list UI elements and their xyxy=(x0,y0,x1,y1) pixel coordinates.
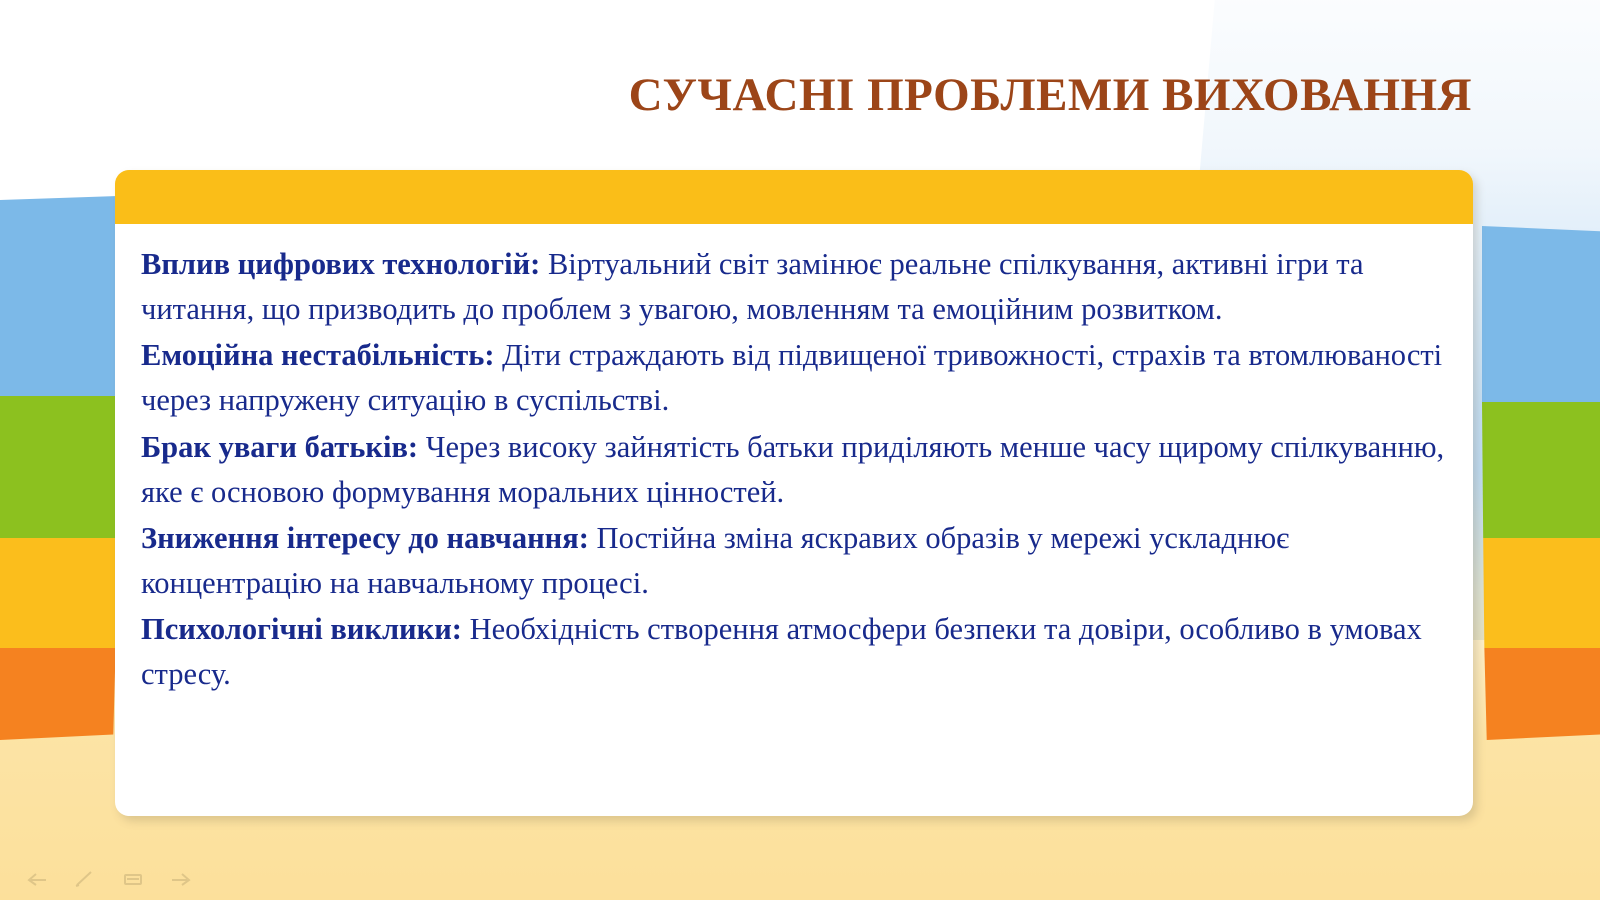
pen-icon[interactable] xyxy=(72,868,98,888)
bullet-lead: Брак уваги батьків: xyxy=(141,430,418,464)
bullet-lead: Психологічні виклики: xyxy=(141,612,462,646)
blue-bar xyxy=(1482,226,1600,402)
presentation-slide: СУЧАСНІ ПРОБЛЕМИ ВИХОВАННЯ Вплив цифрови… xyxy=(0,0,1600,900)
green-bar xyxy=(1482,402,1600,538)
bullet-paragraph: Емоційна нестабільність: Діти страждають… xyxy=(141,333,1449,423)
card-header-bar xyxy=(115,170,1473,224)
presentation-toolbar[interactable] xyxy=(24,868,194,888)
previous-slide-icon[interactable] xyxy=(24,868,50,888)
card-body: Вплив цифрових технологій: Віртуальний с… xyxy=(115,224,1473,708)
next-slide-icon[interactable] xyxy=(168,868,194,888)
bullet-lead: Зниження інтересу до навчання: xyxy=(141,521,589,555)
bullet-lead: Вплив цифрових технологій: xyxy=(141,247,540,281)
left-color-bar-stack xyxy=(0,196,118,740)
bullet-lead: Емоційна нестабільність: xyxy=(141,338,494,372)
orange-bar xyxy=(0,648,118,740)
yellow-bar xyxy=(1482,538,1600,648)
right-color-bar-stack xyxy=(1482,196,1600,740)
slide-menu-icon[interactable] xyxy=(120,868,146,888)
bullet-paragraph: Брак уваги батьків: Через високу зайняті… xyxy=(141,425,1449,515)
green-bar xyxy=(0,396,118,538)
bullet-paragraph: Психологічні виклики: Необхідність створ… xyxy=(141,607,1449,697)
content-card: Вплив цифрових технологій: Віртуальний с… xyxy=(115,170,1473,816)
orange-bar xyxy=(1482,648,1600,740)
bullet-paragraph: Вплив цифрових технологій: Віртуальний с… xyxy=(141,242,1449,332)
bullet-paragraph: Зниження інтересу до навчання: Постійна … xyxy=(141,516,1449,606)
yellow-bar xyxy=(0,538,118,648)
blue-bar xyxy=(0,196,118,396)
slide-title: СУЧАСНІ ПРОБЛЕМИ ВИХОВАННЯ xyxy=(0,68,1472,122)
